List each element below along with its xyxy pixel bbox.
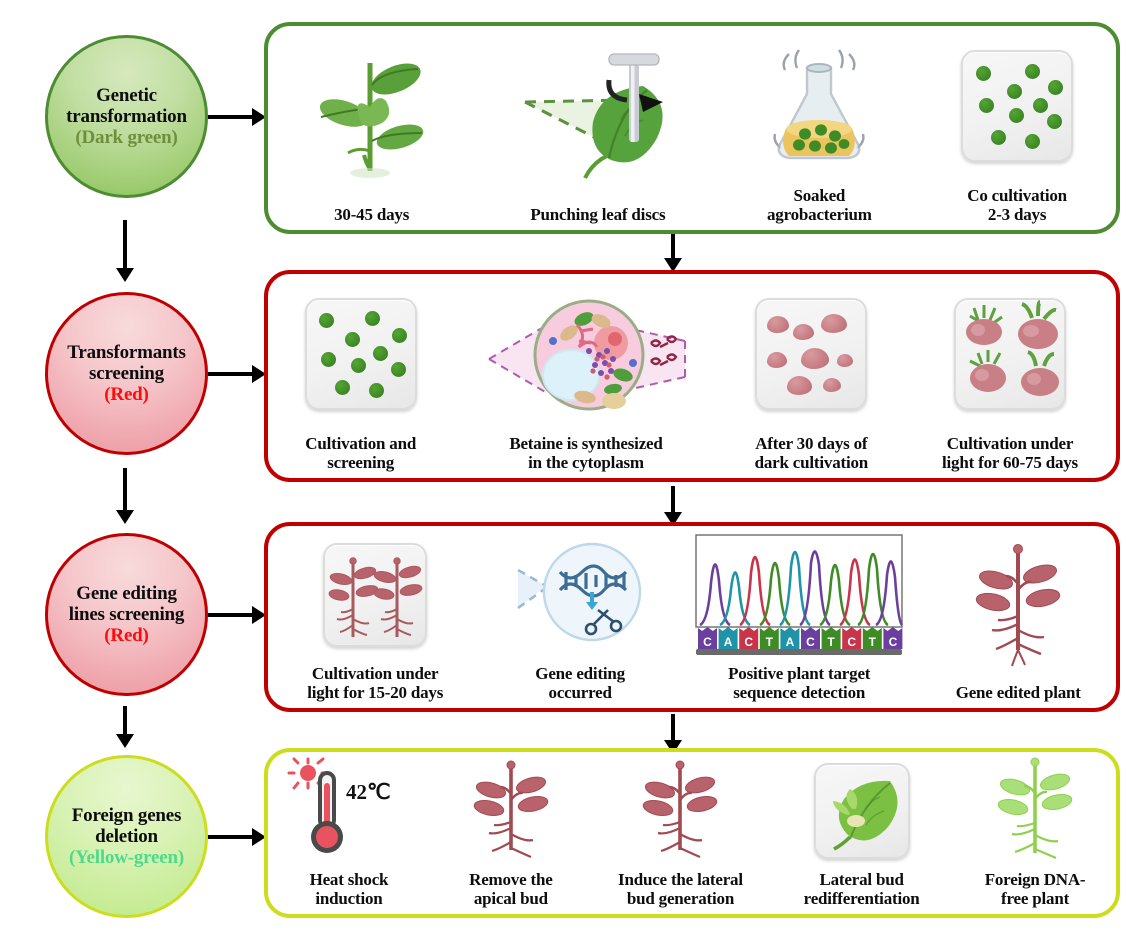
colony-dot bbox=[1033, 98, 1048, 113]
arrow-stage3-to-stage4 bbox=[113, 706, 137, 748]
step-caption: Heat shock induction bbox=[310, 870, 389, 908]
step-co-cultivation[interactable]: Co cultivation 2-3 days bbox=[918, 26, 1116, 230]
sequence-base-letter: T bbox=[869, 635, 877, 649]
sequence-base-letter: T bbox=[766, 635, 774, 649]
arrow-shaft bbox=[208, 835, 256, 839]
sequence-base-letter: C bbox=[889, 635, 898, 649]
stage-color-tag: (Red) bbox=[104, 625, 148, 646]
arrow-shaft bbox=[671, 486, 675, 512]
arrow-stage4-to-row4 bbox=[208, 826, 266, 848]
plant-cell-icon bbox=[457, 274, 714, 434]
callus bbox=[801, 348, 829, 369]
colony-dot bbox=[351, 358, 366, 373]
step-caption: Cultivation under light for 60-75 days bbox=[942, 434, 1078, 472]
callus bbox=[767, 316, 789, 333]
step-seedling[interactable]: 30-45 days bbox=[268, 26, 475, 230]
red-plant-icon bbox=[596, 752, 765, 870]
thermometer-sun-icon: 42℃ bbox=[272, 752, 426, 870]
callus bbox=[823, 378, 841, 392]
arrow-shaft bbox=[208, 372, 256, 376]
arrow-shaft bbox=[123, 468, 127, 510]
step-caption: Soaked agrobacterium bbox=[767, 186, 872, 224]
arrow-stage3-to-row3 bbox=[208, 604, 266, 626]
colony-dot bbox=[391, 362, 406, 377]
arrow-head bbox=[116, 268, 134, 282]
petri-dish-green-dots-icon bbox=[922, 26, 1112, 186]
row-panel-transformants-screening: Cultivation and screening bbox=[264, 270, 1120, 482]
sequence-base-letter: C bbox=[848, 635, 857, 649]
stage-circle-genetic-transformation[interactable]: Genetic transformation (Dark green) bbox=[45, 35, 208, 198]
step-remove-apical-bud[interactable]: Remove the apical bud bbox=[430, 752, 592, 914]
step-soaked-agrobacterium[interactable]: Soaked agrobacterium bbox=[720, 26, 918, 230]
step-light-cultivation[interactable]: Cultivation under light for 60-75 days bbox=[904, 274, 1116, 478]
arrow-shaft bbox=[671, 714, 675, 740]
arrow-stage2-to-row2 bbox=[208, 363, 266, 385]
colony-dot bbox=[976, 66, 991, 81]
red-plant-icon bbox=[434, 752, 588, 870]
step-caption: Positive plant target sequence detection bbox=[728, 664, 870, 702]
arrow-stage1-to-stage2 bbox=[113, 220, 137, 282]
petri-dish-seedlings-icon bbox=[272, 526, 478, 664]
colony-dot bbox=[345, 332, 360, 347]
stage-label-line1: Transformants bbox=[67, 342, 185, 363]
chromatogram-icon: CACTACTCTC bbox=[682, 526, 916, 664]
step-cultivation-and-screening[interactable]: Cultivation and screening bbox=[268, 274, 453, 478]
step-gene-editing-occurred[interactable]: Gene editing occurred bbox=[482, 526, 678, 708]
stage-label-line1: Foreign genes bbox=[72, 805, 181, 826]
callus bbox=[793, 324, 814, 340]
green-plant-icon bbox=[958, 752, 1112, 870]
colony-dot bbox=[1025, 64, 1040, 79]
step-punching-leaf-discs[interactable]: Punching leaf discs bbox=[475, 26, 720, 230]
step-gene-edited-plant[interactable]: Gene edited plant bbox=[920, 526, 1116, 708]
arrow-stage2-to-stage3 bbox=[113, 468, 137, 524]
step-caption: Foreign DNA- free plant bbox=[985, 870, 1086, 908]
colony-dot bbox=[1007, 84, 1022, 99]
sequence-base-letter: C bbox=[745, 635, 754, 649]
stage-label-line2: lines screening bbox=[69, 604, 184, 625]
step-caption: Cultivation under light for 15-20 days bbox=[307, 664, 443, 702]
workflow-diagram: Genetic transformation (Dark green) Tran… bbox=[0, 0, 1126, 937]
step-caption: 30-45 days bbox=[334, 205, 409, 224]
step-caption: Remove the apical bud bbox=[469, 870, 552, 908]
row-panel-gene-editing-lines-screening: Cultivation under light for 15-20 days bbox=[264, 522, 1120, 712]
sequence-base-letter: C bbox=[806, 635, 815, 649]
colony-dot bbox=[1009, 108, 1024, 123]
step-foreign-dna-free-plant[interactable]: Foreign DNA- free plant bbox=[954, 752, 1116, 914]
stage-label-line2: screening bbox=[89, 363, 164, 384]
stage-circle-transformants-screening[interactable]: Transformants screening (Red) bbox=[45, 292, 208, 455]
step-caption: Induce the lateral bud generation bbox=[618, 870, 743, 908]
step-sequence-detection[interactable]: CACTACTCTC Positive plant target sequenc… bbox=[678, 526, 920, 708]
callus bbox=[767, 352, 787, 368]
step-caption: Gene edited plant bbox=[956, 683, 1081, 702]
stage-circle-gene-editing-lines-screening[interactable]: Gene editing lines screening (Red) bbox=[45, 533, 208, 696]
colony-dot bbox=[979, 98, 994, 113]
stage-label-line2: deletion bbox=[95, 826, 158, 847]
stage-label-line1: Gene editing bbox=[76, 583, 177, 604]
arrow-row1-to-row2 bbox=[661, 232, 685, 272]
stage-label-line2: transformation bbox=[66, 106, 187, 127]
arrow-shaft bbox=[123, 706, 127, 734]
arrow-shaft bbox=[671, 232, 675, 258]
row-panel-foreign-genes-deletion: 42℃ Heat shock induction bbox=[264, 748, 1120, 918]
arrow-head bbox=[116, 734, 134, 748]
arrow-stage1-to-row1 bbox=[208, 106, 266, 128]
arrow-shaft bbox=[208, 613, 256, 617]
arrow-shaft bbox=[208, 115, 256, 119]
step-heat-shock-induction[interactable]: 42℃ Heat shock induction bbox=[268, 752, 430, 914]
seedling-plant-icon bbox=[272, 26, 471, 205]
colony-dot bbox=[319, 313, 334, 328]
petri-dish bbox=[305, 298, 417, 410]
colony-dot bbox=[1047, 114, 1062, 129]
step-caption: Betaine is synthesized in the cytoplasm bbox=[509, 434, 662, 472]
callus bbox=[837, 354, 853, 367]
petri-dish bbox=[961, 50, 1073, 162]
petri-dish-callus-icon bbox=[723, 274, 900, 434]
step-caption: Co cultivation 2-3 days bbox=[967, 186, 1067, 224]
step-caption: Punching leaf discs bbox=[530, 205, 665, 224]
arrow-shaft bbox=[123, 220, 127, 268]
step-caption: Cultivation and screening bbox=[305, 434, 416, 472]
sequence-base-letter: T bbox=[828, 635, 836, 649]
colony-dot bbox=[392, 328, 407, 343]
step-cultivation-light-15-20[interactable]: Cultivation under light for 15-20 days bbox=[268, 526, 482, 708]
petri-dish bbox=[954, 298, 1066, 410]
petri-dish-green-dots-icon bbox=[272, 274, 449, 434]
step-induce-lateral-bud[interactable]: Induce the lateral bud generation bbox=[592, 752, 769, 914]
petri-dish bbox=[814, 763, 910, 859]
arrow-head bbox=[116, 510, 134, 524]
sequence-base-letter: A bbox=[724, 635, 733, 649]
callus bbox=[821, 314, 847, 333]
stage-color-tag: (Dark green) bbox=[75, 127, 177, 148]
stage-circle-foreign-genes-deletion[interactable]: Foreign genes deletion (Yellow-green) bbox=[45, 755, 208, 918]
sequence-base-letter: C bbox=[703, 635, 712, 649]
step-caption: Lateral bud redifferentiation bbox=[804, 870, 920, 908]
petri-dish bbox=[755, 298, 867, 410]
colony-dot bbox=[1048, 80, 1063, 95]
leaf-punch-icon bbox=[479, 26, 716, 205]
row-panel-genetic-transformation: 30-45 days bbox=[264, 22, 1120, 234]
arrow-row2-to-row3 bbox=[661, 486, 685, 526]
petri-dish-shooting-callus-icon bbox=[908, 274, 1112, 434]
colony-dot bbox=[991, 130, 1006, 145]
colony-dot bbox=[335, 380, 350, 395]
sequence-base-letter: A bbox=[786, 635, 795, 649]
petri-dish bbox=[323, 543, 427, 647]
step-betaine-synthesis[interactable]: Betaine is synthesized in the cytoplasm bbox=[453, 274, 718, 478]
callus bbox=[787, 376, 812, 395]
step-lateral-bud-redifferentiation[interactable]: Lateral bud redifferentiation bbox=[769, 752, 954, 914]
red-plant-icon bbox=[924, 526, 1112, 683]
stage-label-line1: Genetic bbox=[96, 85, 157, 106]
step-caption: Gene editing occurred bbox=[535, 664, 625, 702]
temperature-badge: 42℃ bbox=[346, 780, 391, 804]
colony-dot bbox=[373, 346, 388, 361]
colony-dot bbox=[321, 352, 336, 367]
flask-icon bbox=[724, 26, 914, 186]
stage-color-tag: (Yellow-green) bbox=[69, 847, 184, 868]
leaf-bud-dish-icon bbox=[773, 752, 950, 870]
step-caption: After 30 days of dark cultivation bbox=[755, 434, 868, 472]
colony-dot bbox=[1025, 134, 1040, 149]
step-dark-cultivation[interactable]: After 30 days of dark cultivation bbox=[719, 274, 904, 478]
dna-scissors-icon bbox=[486, 526, 674, 664]
colony-dot bbox=[365, 311, 380, 326]
colony-dot bbox=[369, 383, 384, 398]
stage-color-tag: (Red) bbox=[104, 384, 148, 405]
